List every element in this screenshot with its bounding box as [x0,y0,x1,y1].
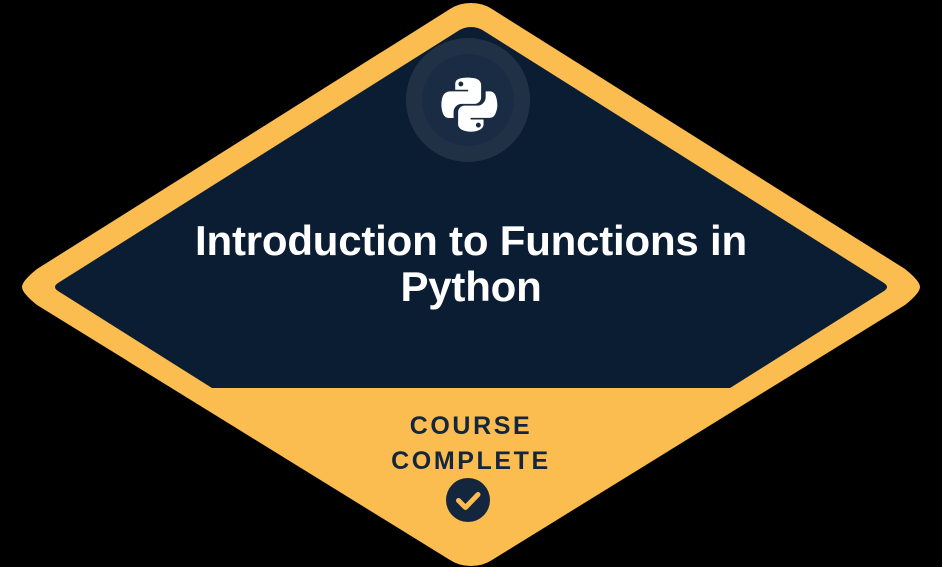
badge-artwork [0,0,942,567]
check-circle-icon [446,478,490,522]
course-completion-badge: Introduction to Functions in Python COUR… [0,0,942,567]
